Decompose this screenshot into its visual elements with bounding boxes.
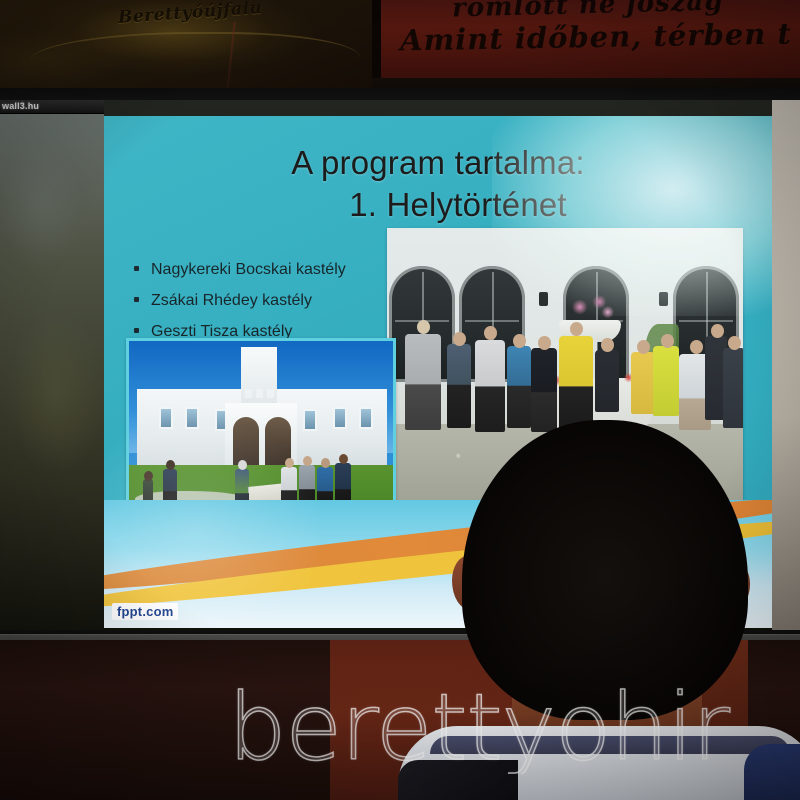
taskbar-url-label: wall3.hu bbox=[2, 101, 39, 111]
castle-window bbox=[359, 407, 373, 429]
person-head bbox=[570, 322, 583, 336]
bullet-point-icon bbox=[134, 297, 139, 302]
desktop-wallpaper-left: wall3.hu bbox=[0, 100, 104, 630]
person-head-silhouette bbox=[462, 420, 748, 720]
person-figure bbox=[723, 348, 743, 428]
map-river-line bbox=[30, 32, 360, 72]
person-head bbox=[538, 336, 551, 350]
person-head bbox=[601, 338, 614, 352]
slide-title-line-1: A program tartalma: bbox=[104, 142, 772, 184]
castle-window bbox=[303, 409, 317, 431]
castle-window bbox=[185, 407, 199, 429]
map-place-label: Berettyóújfalu bbox=[117, 0, 263, 28]
person-head bbox=[484, 326, 497, 340]
crenellation bbox=[245, 389, 252, 398]
student-head bbox=[339, 454, 348, 464]
person-collar bbox=[430, 736, 790, 754]
slide-title: A program tartalma: 1. Helytörténet bbox=[104, 142, 772, 226]
fppt-watermark-label: fppt.com bbox=[112, 603, 178, 620]
person-shoulder-left bbox=[398, 760, 518, 800]
person-figure bbox=[595, 350, 619, 412]
classroom-wall: Berettyóújfalu romlott ne jószág Amint i… bbox=[0, 0, 800, 95]
porch-arch bbox=[233, 417, 259, 467]
bullet-label: Nagykereki Bocskai kastély bbox=[151, 254, 346, 285]
person-head bbox=[417, 320, 430, 334]
person-figure bbox=[405, 334, 441, 430]
student-head bbox=[303, 456, 312, 466]
slide-title-line-2: 1. Helytörténet bbox=[104, 184, 772, 226]
person-figure bbox=[531, 348, 557, 432]
pink-flowers bbox=[563, 290, 619, 324]
person-head bbox=[661, 334, 674, 348]
person-figure bbox=[475, 340, 505, 432]
person-head bbox=[513, 334, 526, 348]
desktop-taskbar[interactable]: wall3.hu bbox=[0, 100, 104, 114]
student-head bbox=[285, 458, 294, 468]
wall-poster-map: Berettyóújfalu bbox=[0, 0, 372, 90]
student-head bbox=[144, 471, 153, 481]
wall-poster-red: romlott ne jószág Amint időben, térben t bbox=[372, 0, 800, 78]
person-head bbox=[453, 332, 466, 346]
castle-porch bbox=[225, 403, 297, 467]
person-head bbox=[728, 336, 741, 350]
screenshot-scene: Berettyóújfalu romlott ne jószág Amint i… bbox=[0, 0, 800, 800]
person-head bbox=[711, 324, 724, 338]
person-figure bbox=[447, 344, 471, 428]
person-figure bbox=[507, 346, 531, 428]
person-shoulder-right bbox=[744, 744, 800, 800]
poster-cursive-line-2: Amint időben, térben t bbox=[400, 17, 792, 58]
teacher-head bbox=[238, 460, 247, 470]
crenellation bbox=[267, 389, 274, 398]
student-head bbox=[166, 460, 175, 470]
bullet-label: Zsákai Rhédey kastély bbox=[151, 285, 312, 316]
castle-window bbox=[159, 407, 173, 429]
person-figure-hi-vis bbox=[653, 346, 679, 416]
person-figure-hi-vis bbox=[631, 352, 655, 414]
person-head bbox=[690, 340, 703, 354]
bullet-point-icon bbox=[134, 328, 139, 333]
desktop-wallpaper-right bbox=[772, 100, 800, 630]
wall-lamp bbox=[659, 292, 668, 306]
wall-lamp bbox=[539, 292, 548, 306]
castle-window bbox=[333, 407, 347, 429]
person-head bbox=[637, 340, 650, 354]
castle-tower bbox=[241, 347, 277, 403]
student-head bbox=[321, 458, 330, 468]
bullet-point-icon bbox=[134, 266, 139, 271]
crenellation bbox=[256, 389, 263, 398]
person-figure-yellow-shirt bbox=[559, 336, 593, 432]
